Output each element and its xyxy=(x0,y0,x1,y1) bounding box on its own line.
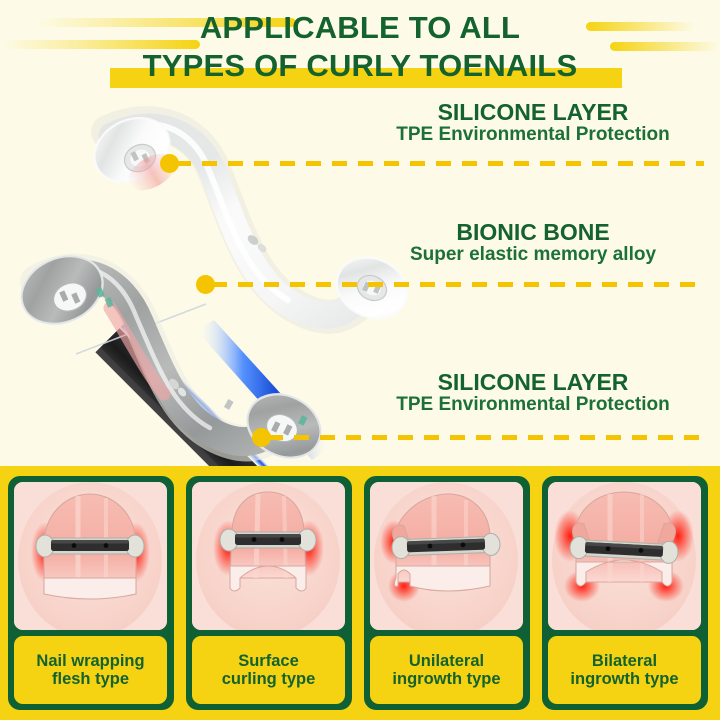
caption-line-2: ingrowth type xyxy=(392,670,500,688)
toe-illustration-unilateral-ingrowth xyxy=(370,482,523,630)
callout-silicone-layer-top: SILICONE LAYER TPE Environmental Protect… xyxy=(360,100,706,146)
callout-subtitle: TPE Environmental Protection xyxy=(360,124,706,146)
caption-line-2: ingrowth type xyxy=(570,670,678,688)
panel-nail-wrapping-flesh[interactable]: Nail wrapping flesh type xyxy=(8,476,174,710)
panel-bilateral-ingrowth[interactable]: Bilateral ingrowth type xyxy=(542,476,708,710)
toe-illustration-bilateral-ingrowth xyxy=(548,482,701,630)
panel-caption: Unilateral ingrowth type xyxy=(370,636,523,704)
panel-caption-text: Bilateral ingrowth type xyxy=(567,652,681,689)
callout-subtitle: Super elastic memory alloy xyxy=(360,244,706,266)
nail-types-section: Nail wrapping flesh type xyxy=(0,466,720,720)
callout-title: SILICONE LAYER xyxy=(360,370,706,394)
toe-illustration-surface-curling xyxy=(192,482,345,630)
callout-dot-3 xyxy=(252,428,271,447)
page-title-line-2: TYPES OF CURLY TOENAILS xyxy=(0,50,720,81)
panel-caption-text: Surface curling type xyxy=(219,652,319,689)
infographic-root: APPLICABLE TO ALL TYPES OF CURLY TOENAIL… xyxy=(0,0,720,720)
callout-dash-line-2 xyxy=(212,282,704,287)
page-title-line-2-text: TYPES OF CURLY TOENAILS xyxy=(143,48,578,83)
callout-bionic-bone: BIONIC BONE Super elastic memory alloy xyxy=(360,220,706,266)
callout-dash-line-1 xyxy=(176,161,704,166)
toe-illustration-nail-wrapping-flesh xyxy=(14,482,167,630)
callout-subtitle: TPE Environmental Protection xyxy=(360,394,706,416)
panel-caption-text: Unilateral ingrowth type xyxy=(389,652,503,689)
header-banner: APPLICABLE TO ALL TYPES OF CURLY TOENAIL… xyxy=(0,0,720,92)
panel-unilateral-ingrowth[interactable]: Unilateral ingrowth type xyxy=(364,476,530,710)
panel-surface-curling[interactable]: Surface curling type xyxy=(186,476,352,710)
callout-title: BIONIC BONE xyxy=(360,220,706,244)
callout-dash-line-3 xyxy=(268,435,704,440)
callout-title: SILICONE LAYER xyxy=(360,100,706,124)
panel-caption: Bilateral ingrowth type xyxy=(548,636,701,704)
page-title-line-1: APPLICABLE TO ALL xyxy=(0,12,720,43)
callout-silicone-layer-bottom: SILICONE LAYER TPE Environmental Protect… xyxy=(360,370,706,416)
caption-line-2: curling type xyxy=(222,670,316,688)
product-diagram-section: SILICONE LAYER TPE Environmental Protect… xyxy=(0,92,720,466)
caption-line-1: Nail wrapping xyxy=(36,652,144,670)
callout-dot-1 xyxy=(160,154,179,173)
caption-line-1: Bilateral xyxy=(592,652,657,670)
callout-dot-2 xyxy=(196,275,215,294)
panel-caption: Surface curling type xyxy=(192,636,345,704)
caption-line-1: Surface xyxy=(238,652,299,670)
caption-line-1: Unilateral xyxy=(409,652,484,670)
panel-caption-text: Nail wrapping flesh type xyxy=(33,652,147,689)
panel-caption: Nail wrapping flesh type xyxy=(14,636,167,704)
caption-line-2: flesh type xyxy=(52,670,129,688)
